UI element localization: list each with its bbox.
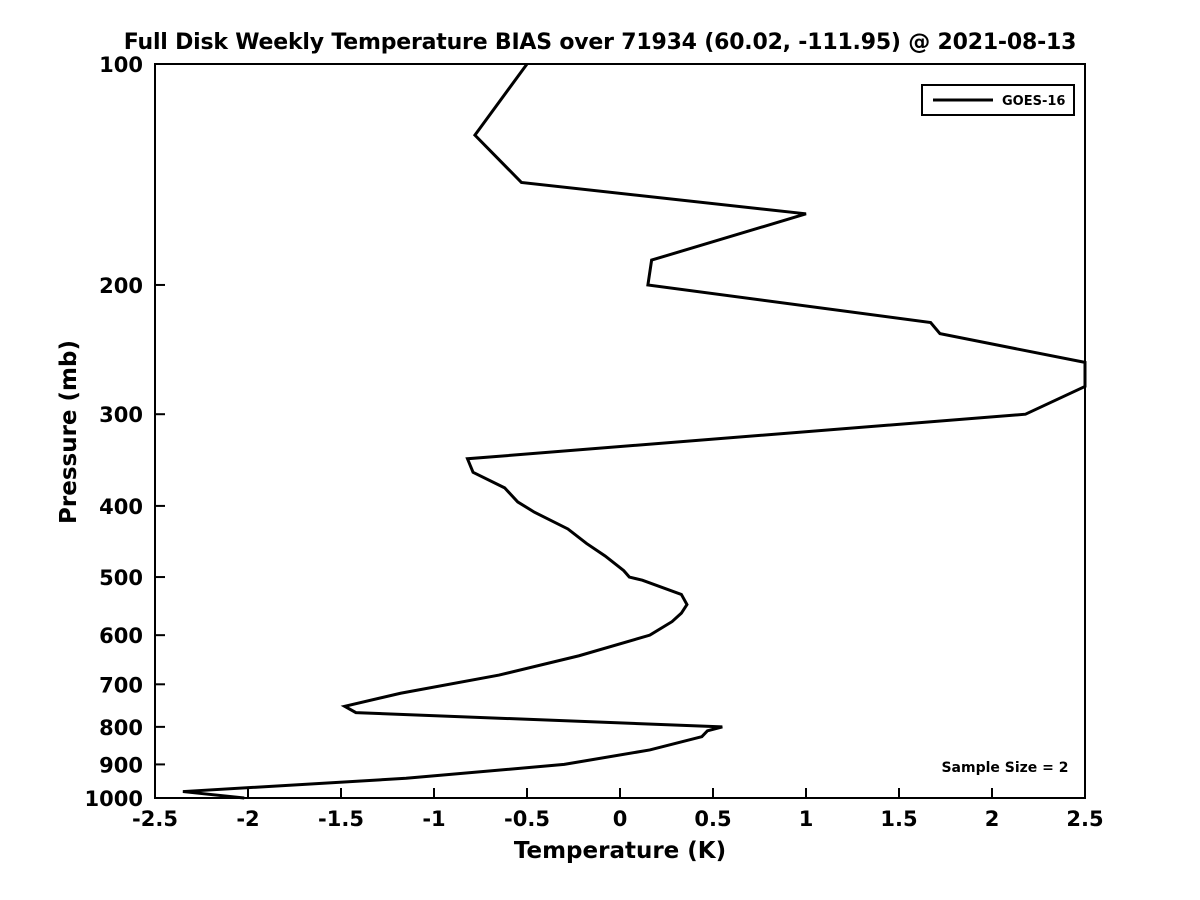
x-tick-label: 1.5 — [880, 807, 917, 831]
sample-size-annotation: Sample Size = 2 — [941, 760, 1068, 776]
plot-frame — [155, 64, 1085, 798]
x-tick-label: 0 — [613, 807, 628, 831]
x-tick-label: -0.5 — [504, 807, 550, 831]
x-axis-ticks: -2.5-2-1.5-1-0.500.511.522.5 — [132, 788, 1104, 831]
y-tick-label: 300 — [99, 403, 143, 427]
x-tick-label: -1 — [422, 807, 445, 831]
y-tick-label: 200 — [99, 274, 143, 298]
y-axis-ticks: 1002003004005006007008009001000 — [85, 53, 165, 811]
y-tick-label: 800 — [99, 716, 143, 740]
y-tick-label: 700 — [99, 673, 143, 697]
y-tick-label: 500 — [99, 566, 143, 590]
chart-figure: Full Disk Weekly Temperature BIAS over 7… — [0, 0, 1200, 900]
x-axis-title: Temperature (K) — [514, 838, 726, 864]
y-tick-label: 100 — [99, 53, 143, 77]
legend-entry-label: GOES-16 — [1002, 94, 1065, 109]
y-tick-label: 600 — [99, 624, 143, 648]
x-tick-label: 2 — [985, 807, 1000, 831]
data-series-line — [183, 64, 1085, 798]
y-tick-label: 400 — [99, 495, 143, 519]
y-tick-label: 1000 — [85, 787, 143, 811]
x-tick-label: 2.5 — [1066, 807, 1103, 831]
y-axis-title: Pressure (mb) — [56, 340, 82, 524]
x-tick-label: -2 — [236, 807, 259, 831]
legend[interactable]: GOES-16 — [922, 85, 1074, 115]
y-tick-label: 900 — [99, 753, 143, 777]
x-tick-label: 1 — [799, 807, 814, 831]
x-tick-label: 0.5 — [694, 807, 731, 831]
plot-area: -2.5-2-1.5-1-0.500.511.522.5 10020030040… — [0, 0, 1200, 900]
data-series-group — [183, 64, 1085, 798]
x-tick-label: -1.5 — [318, 807, 364, 831]
